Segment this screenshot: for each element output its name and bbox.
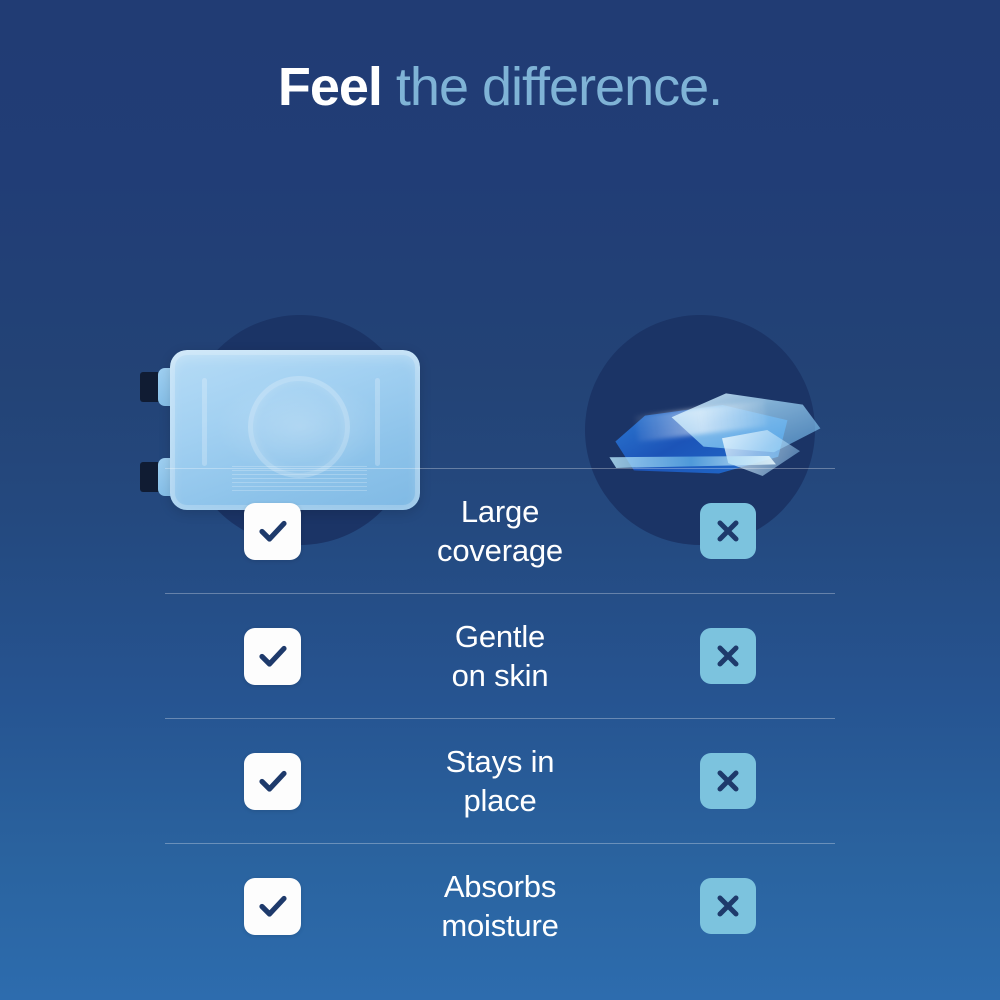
row-left-cell [165,503,380,560]
table-row: Absorbs moisture [165,844,835,968]
check-badge [244,753,301,810]
table-row: Stays in place [165,719,835,843]
row-left-cell [165,878,380,935]
cross-icon [713,891,743,921]
check-icon [256,764,290,798]
product-showcase [0,150,1000,450]
row-left-cell [165,628,380,685]
row-label-line2: coverage [380,531,620,570]
row-label-line2: place [380,781,620,820]
gel-pad-seam-right [375,378,380,466]
page-title-emphasis: Feel [278,57,382,117]
cross-badge [700,878,756,934]
check-icon [256,639,290,673]
row-right-cell [620,753,835,809]
row-label: Stays in place [380,742,620,820]
page-title: Feel the difference. [0,52,1000,122]
promo-graphic: Feel the difference. [0,0,1000,1000]
row-label-line2: on skin [380,656,620,695]
check-badge [244,878,301,935]
row-label-line1: Absorbs [380,867,620,906]
cross-badge [700,503,756,559]
row-right-cell [620,628,835,684]
cross-badge [700,753,756,809]
page-title-rest: the difference. [382,57,722,117]
row-label: Large coverage [380,492,620,570]
row-label-line1: Large [380,492,620,531]
cross-icon [713,516,743,546]
cross-icon [713,641,743,671]
table-row: Large coverage [165,469,835,593]
comparison-table: Large coverage Gent [165,468,835,968]
gel-pad-emboss-ring [248,376,350,478]
check-badge [244,628,301,685]
row-right-cell [620,878,835,934]
row-right-cell [620,503,835,559]
row-label: Absorbs moisture [380,867,620,945]
row-label-line1: Stays in [380,742,620,781]
gel-pad-seam-left [202,378,207,466]
cross-icon [713,766,743,796]
row-label-line2: moisture [380,906,620,945]
check-icon [256,514,290,548]
row-label: Gentle on skin [380,617,620,695]
table-row: Gentle on skin [165,594,835,718]
check-icon [256,889,290,923]
cross-badge [700,628,756,684]
check-badge [244,503,301,560]
row-label-line1: Gentle [380,617,620,656]
row-left-cell [165,753,380,810]
